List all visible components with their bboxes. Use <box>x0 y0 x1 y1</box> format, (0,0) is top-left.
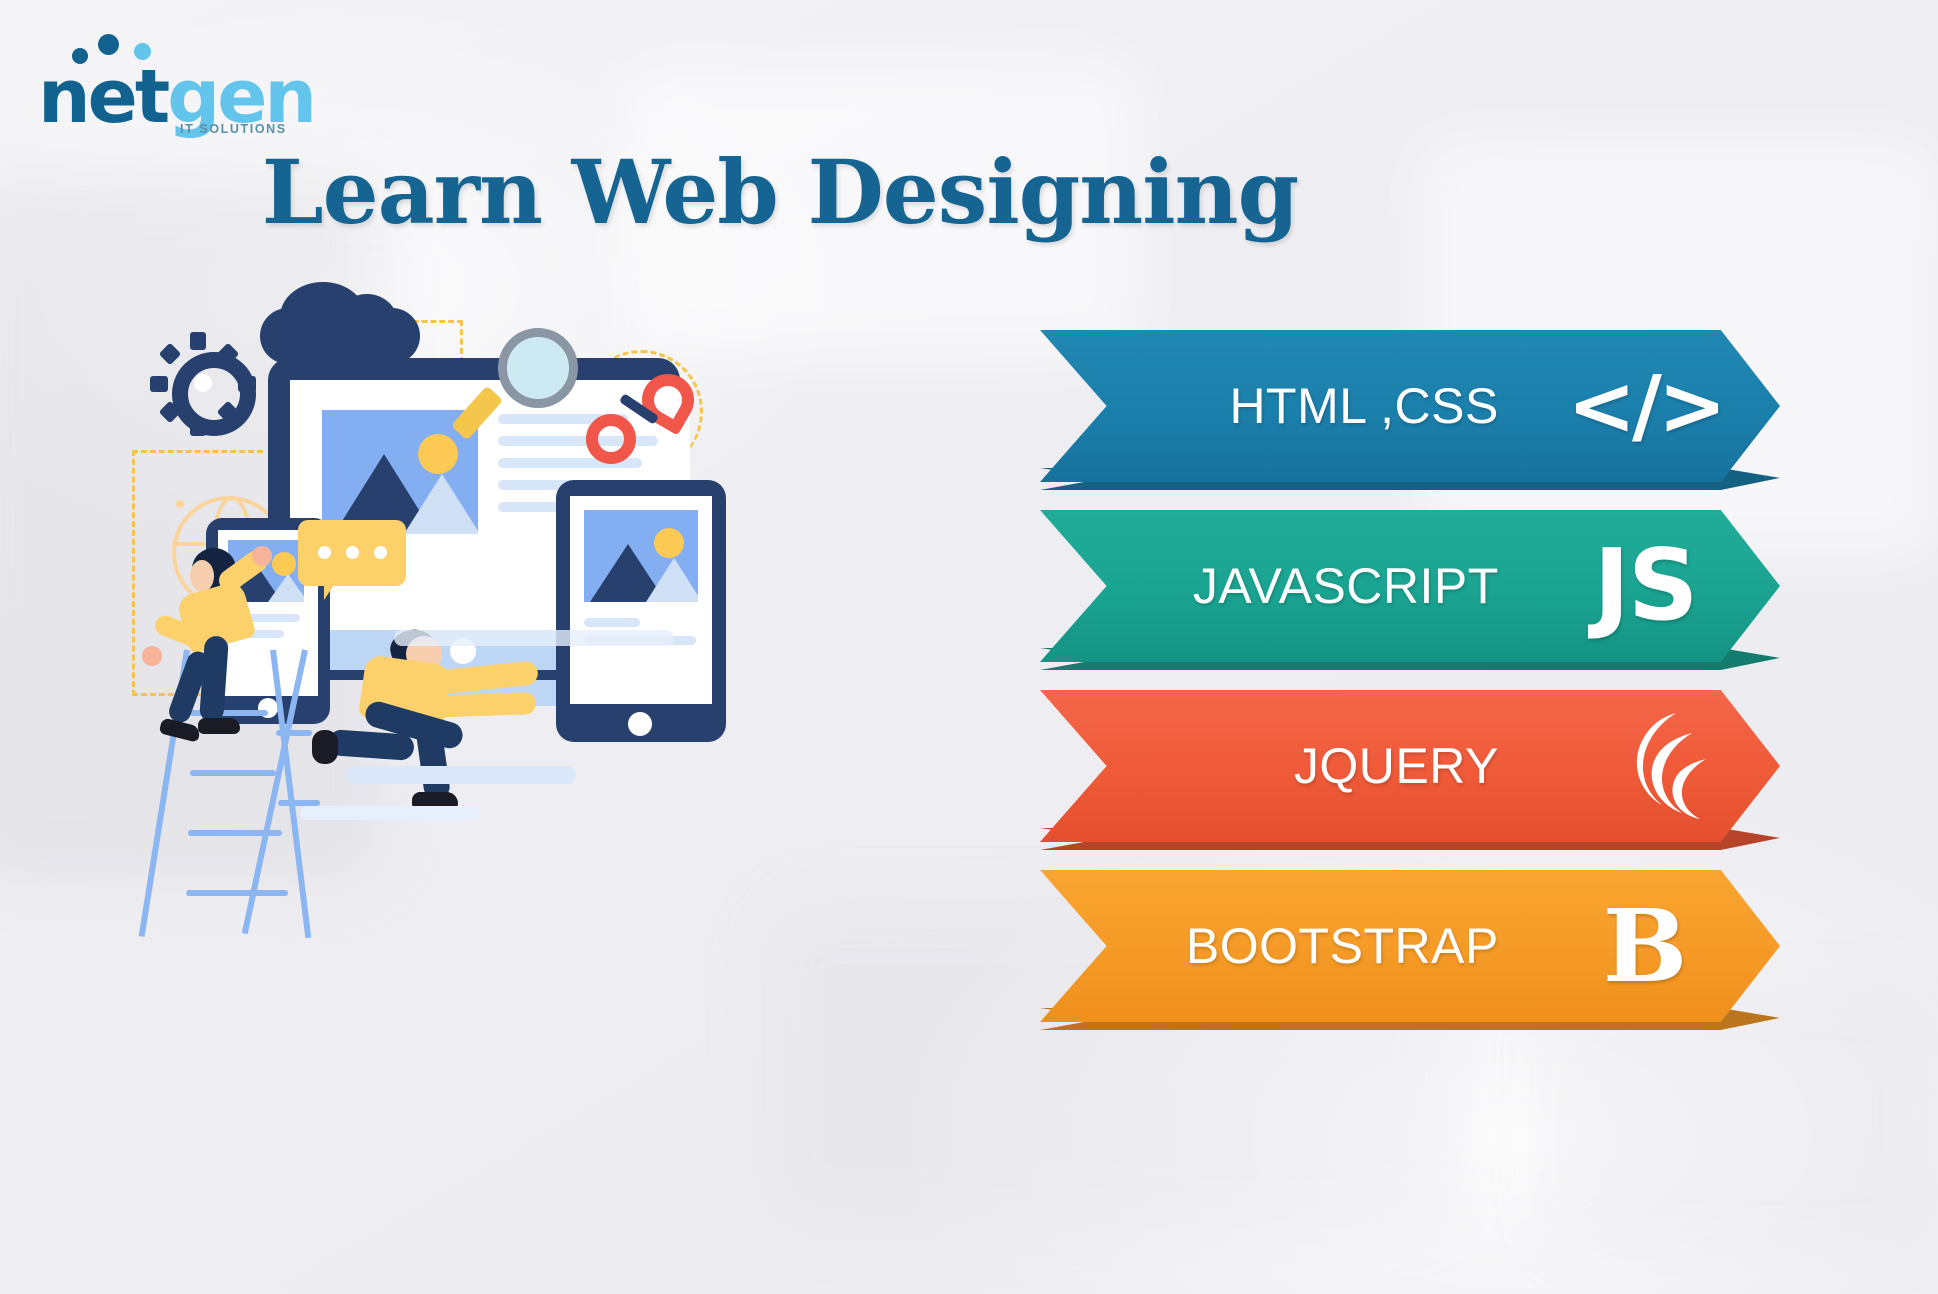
gear-icon <box>238 376 256 392</box>
text-line <box>584 618 640 627</box>
gear-icon <box>190 418 206 436</box>
logo-net-text: net <box>38 54 167 140</box>
speech-bubble-tail <box>324 582 336 600</box>
gear-icon <box>150 376 168 392</box>
person-arm <box>426 692 537 718</box>
logo-tagline: IT SOLUTIONS <box>180 122 287 136</box>
speech-bubble <box>298 520 406 586</box>
person-leg <box>327 729 415 761</box>
banner-label: HTML ,CSS <box>1040 330 1499 482</box>
floor-shadow <box>300 806 480 820</box>
page-title: Learn Web Designing <box>0 140 1560 244</box>
banner-javascript[interactable]: JAVASCRIPT JS <box>1040 510 1780 678</box>
jquery-swoosh-icon <box>1570 690 1720 842</box>
wrench-icon <box>586 414 636 464</box>
person-shoe <box>312 730 338 764</box>
gear-icon <box>172 352 256 436</box>
banner-label: JQUERY <box>1040 690 1499 842</box>
banner-label: JAVASCRIPT <box>1040 510 1499 662</box>
image-placeholder <box>584 510 698 602</box>
banner-jquery[interactable]: JQUERY <box>1040 690 1780 858</box>
poster-canvas: netgen IT SOLUTIONS Learn Web Designing <box>0 0 1938 1294</box>
person-shoe <box>198 718 240 734</box>
gear-center <box>194 374 212 392</box>
gear-icon <box>159 343 182 366</box>
floor-shadow <box>394 630 674 646</box>
web-design-illustration <box>150 330 930 950</box>
person-hand <box>142 646 162 666</box>
cloud-icon <box>336 294 398 352</box>
floor-shadow <box>346 766 576 784</box>
js-logo-icon: JS <box>1570 510 1720 662</box>
code-brackets-icon: </> <box>1570 330 1720 482</box>
logo-dot-icon <box>98 34 119 55</box>
banner-html-css[interactable]: HTML ,CSS </> <box>1040 330 1780 498</box>
magnifier-icon <box>498 328 578 408</box>
banner-label: BOOTSTRAP <box>1040 870 1499 1022</box>
tablet-home-button <box>628 712 652 736</box>
ladder-rung <box>188 830 282 836</box>
gear-icon <box>190 332 206 350</box>
person-hand <box>252 546 272 566</box>
person-shoe <box>159 717 202 742</box>
ladder-rung <box>186 890 288 896</box>
brand-logo[interactable]: netgen IT SOLUTIONS <box>30 26 310 136</box>
bootstrap-b-icon: B <box>1570 870 1720 1022</box>
ladder-rung <box>190 770 276 776</box>
banner-bootstrap[interactable]: BOOTSTRAP B <box>1040 870 1780 1038</box>
technology-banner-list: HTML ,CSS </> JAVASCRIPT JS JQUERY <box>1040 330 1780 1050</box>
ladder-rung <box>276 730 312 736</box>
